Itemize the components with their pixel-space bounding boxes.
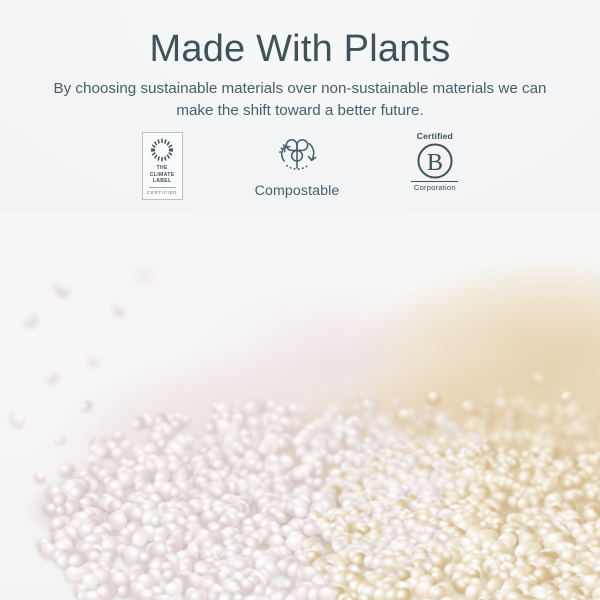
page-title: Made With Plants [0, 28, 600, 72]
resin-pellet [530, 372, 547, 388]
resin-pellet [386, 409, 397, 419]
resin-pellet [496, 384, 509, 396]
resin-pellet [78, 398, 93, 413]
b-corp-certified-text: Certified [417, 132, 453, 141]
climate-label-divider [149, 187, 176, 188]
badge-b-corp: Certified B Corporation [411, 132, 458, 192]
climate-label-line-3: LABEL [150, 178, 175, 185]
resin-pellet [348, 394, 357, 402]
circled-b-icon: B [416, 142, 454, 180]
climate-label-line-2: CLIMATE [150, 172, 175, 179]
resin-pellet [54, 435, 66, 445]
resin-pellet [87, 352, 103, 368]
svg-text:B: B [427, 149, 443, 176]
resin-pellet [337, 394, 346, 403]
resin-pellet [53, 281, 71, 299]
resin-pellet [135, 263, 155, 282]
climate-label-line-1: THE [150, 165, 175, 172]
resin-pellet [8, 410, 27, 430]
page-subtitle: By choosing sustainable materials over n… [48, 78, 552, 123]
climate-label-card: THE CLIMATE LABEL CERTIFIED [142, 132, 183, 200]
climate-label-name: THE CLIMATE LABEL [150, 165, 175, 185]
resin-pellet [542, 413, 552, 422]
poster-canvas: Made With Plants By choosing sustainable… [0, 0, 600, 600]
resin-pellet [392, 394, 405, 407]
resin-pellet [421, 425, 430, 433]
resin-pellet [46, 372, 59, 383]
header-block: Made With Plants By choosing sustainable… [0, 0, 600, 222]
pellet-photograph [0, 210, 600, 600]
resin-pellet [558, 443, 571, 456]
resin-pellet [32, 470, 48, 486]
compostable-label: Compostable [255, 183, 340, 199]
resin-pellet [189, 592, 204, 600]
certification-badge-row: THE CLIMATE LABEL CERTIFIED [0, 132, 600, 212]
b-corp-corporation-text: Corporation [414, 184, 456, 192]
sunburst-icon [149, 137, 175, 163]
resin-pellet [425, 389, 444, 406]
resin-pellet [22, 312, 39, 327]
b-corp-divider [411, 181, 458, 182]
resin-pellet [553, 418, 561, 425]
resin-pellet [297, 405, 309, 416]
resin-pellet [112, 302, 127, 317]
climate-label-certified-text: CERTIFIED [147, 190, 177, 195]
compostable-recycle-clover-icon [271, 132, 323, 178]
resin-pellet [58, 463, 77, 479]
resin-pellet [495, 398, 508, 410]
badge-compostable: Compostable [255, 132, 340, 199]
badge-climate-label: THE CLIMATE LABEL CERTIFIED [142, 132, 183, 200]
